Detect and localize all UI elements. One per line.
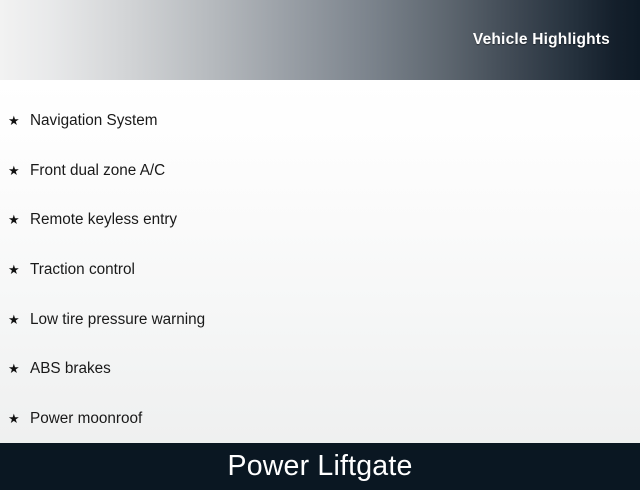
star-icon: ★ [8,114,30,127]
list-item: ★ Power moonroof [0,394,640,444]
list-item: ★ Front dual zone A/C [0,146,640,196]
star-icon: ★ [8,213,30,226]
star-icon: ★ [8,412,30,425]
highlights-panel: ★ Navigation System ★ Front dual zone A/… [0,80,640,443]
highlight-label: Navigation System [30,113,158,128]
star-icon: ★ [8,263,30,276]
star-icon: ★ [8,362,30,375]
highlights-list: ★ Navigation System ★ Front dual zone A/… [0,96,640,443]
list-item: ★ Low tire pressure warning [0,294,640,344]
footer-caption: Power Liftgate [228,450,413,483]
list-item: ★ Navigation System [0,96,640,146]
star-icon: ★ [8,164,30,177]
star-icon: ★ [8,313,30,326]
highlight-label: Power moonroof [30,411,142,426]
footer-bar: Power Liftgate [0,443,640,490]
list-item: ★ Traction control [0,245,640,295]
list-item: ★ ABS brakes [0,344,640,394]
highlight-label: Remote keyless entry [30,212,177,227]
page-title: Vehicle Highlights [473,31,610,49]
vehicle-highlights-slide: Vehicle Highlights ★ Navigation System ★… [0,0,640,480]
list-item: ★ Remote keyless entry [0,195,640,245]
highlight-label: Low tire pressure warning [30,312,205,327]
highlight-label: Traction control [30,262,135,277]
header-bar: Vehicle Highlights [0,0,640,80]
highlight-label: Front dual zone A/C [30,163,165,178]
highlight-label: ABS brakes [30,361,111,376]
